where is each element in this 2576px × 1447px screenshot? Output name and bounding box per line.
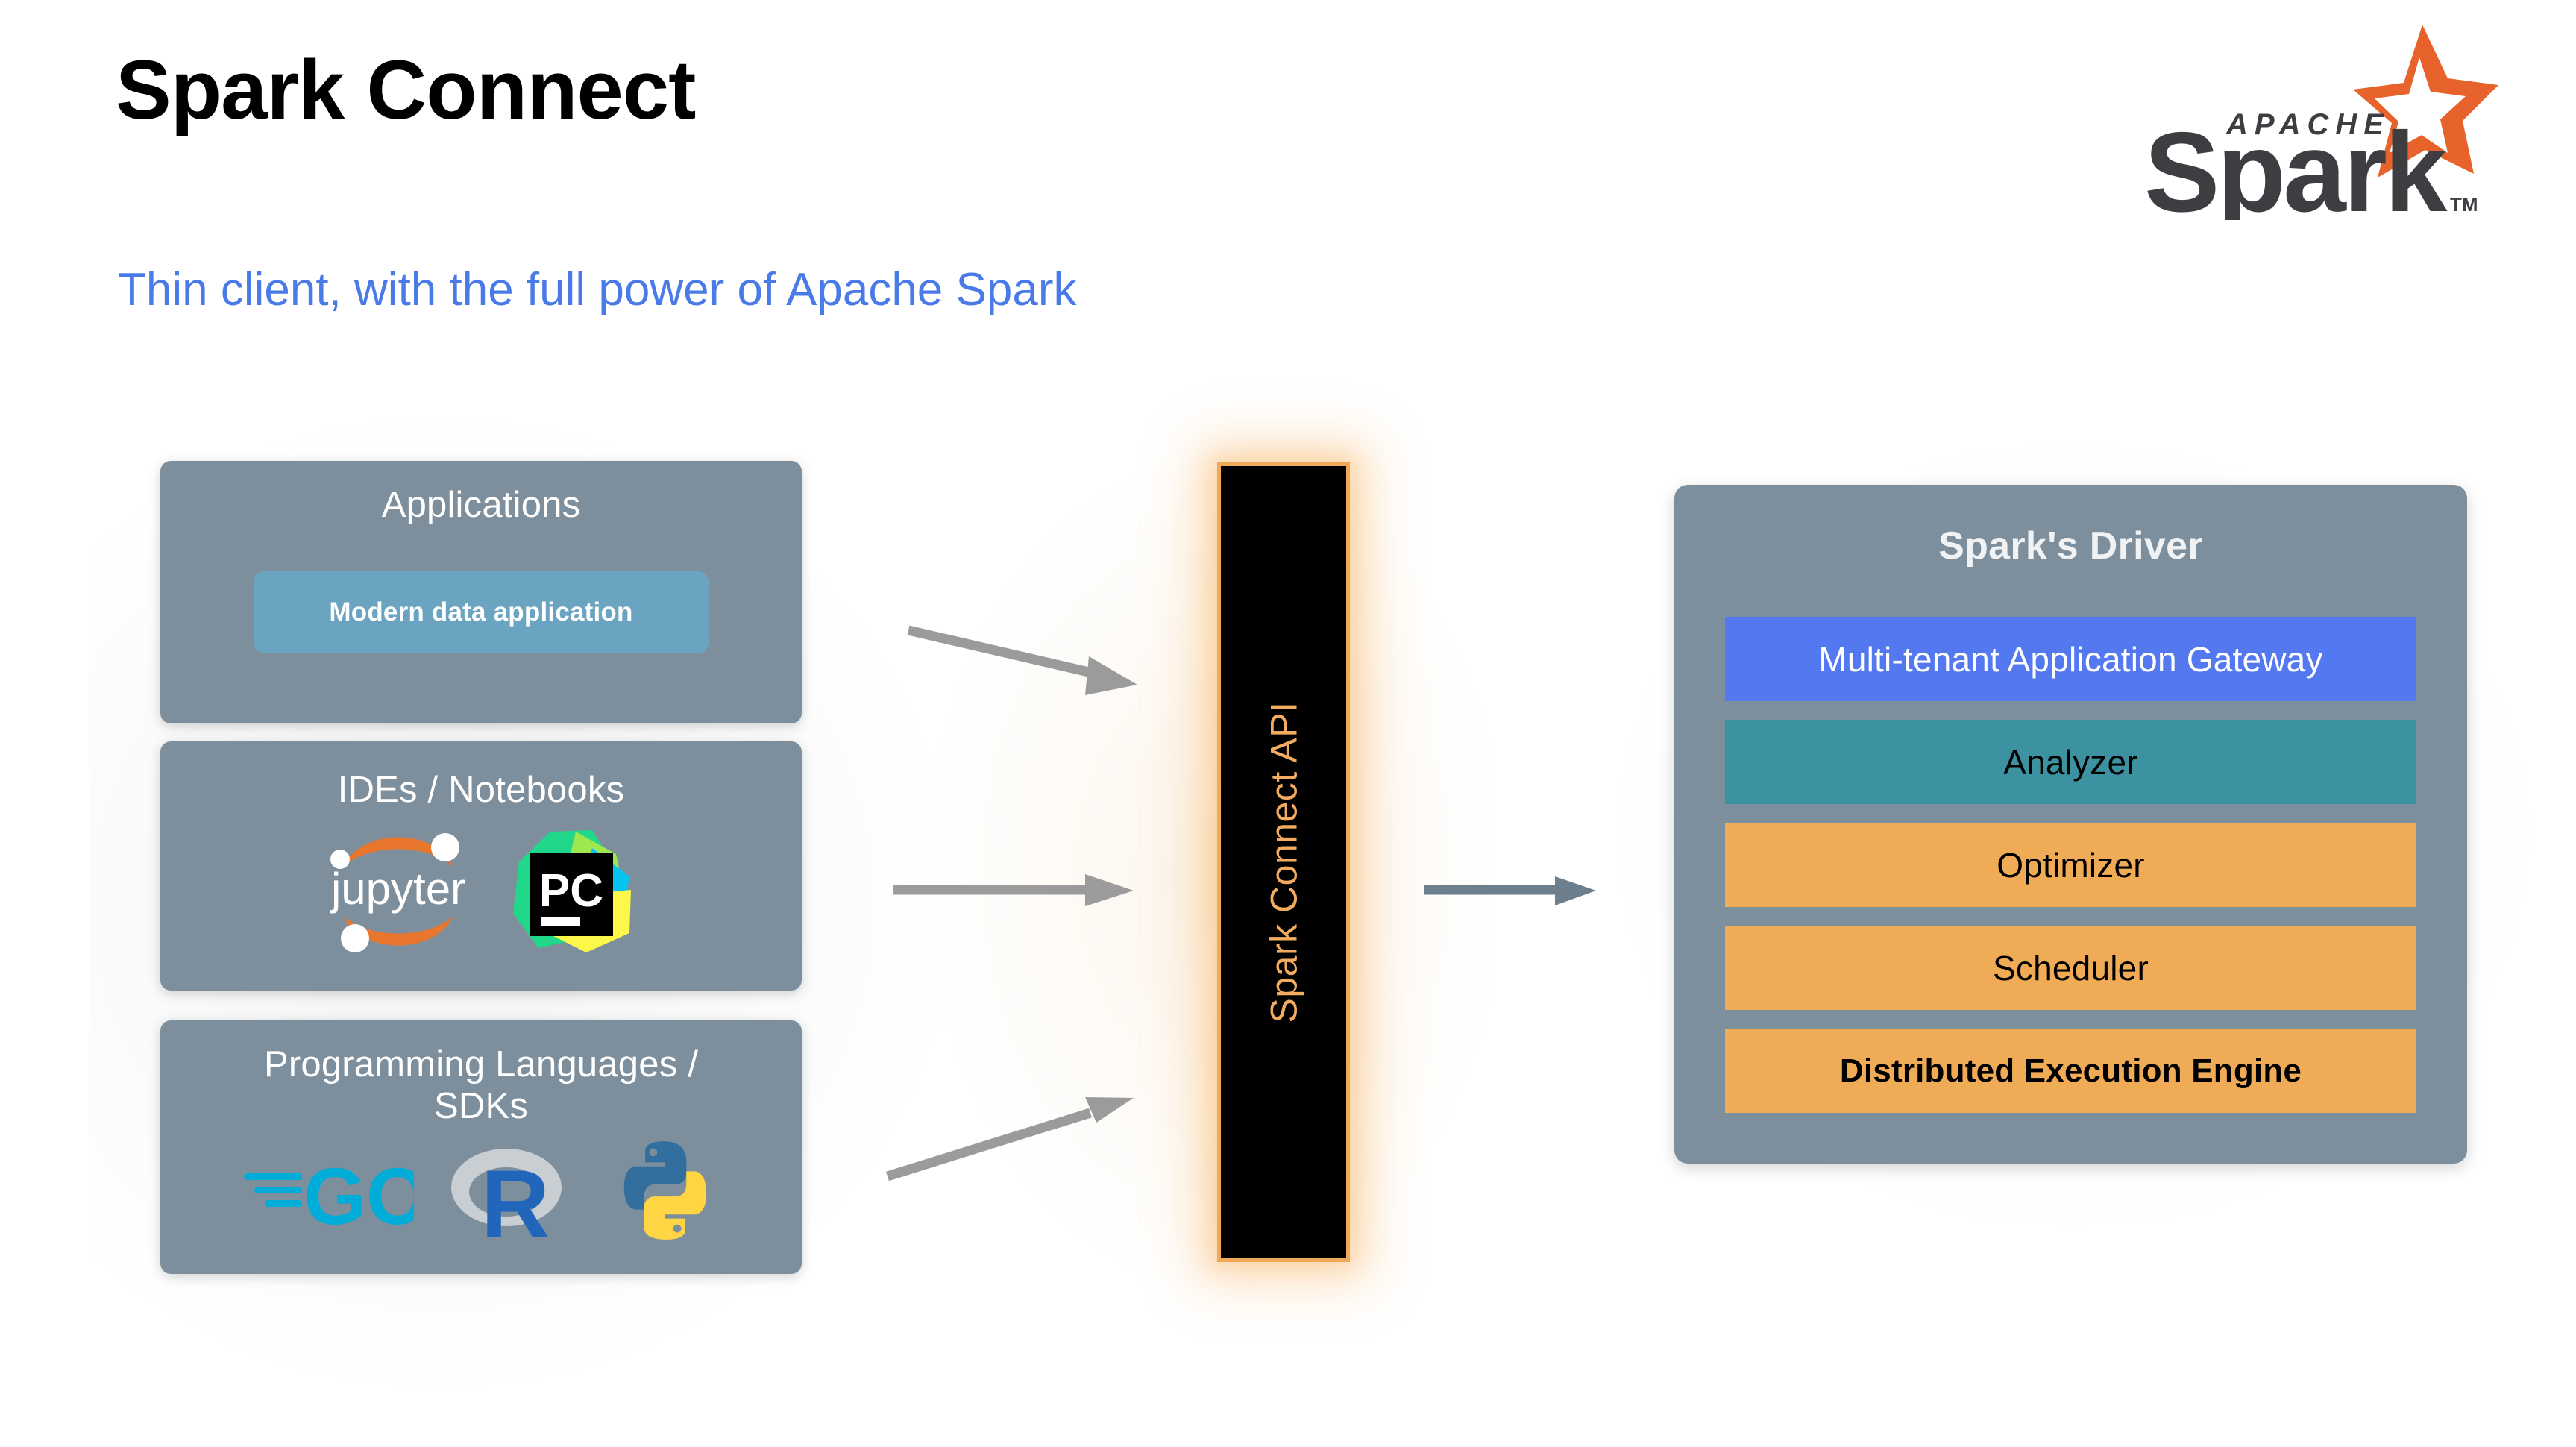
svg-text:Spark: Spark xyxy=(2144,109,2448,220)
driver-row-analyzer[interactable]: Analyzer xyxy=(1725,720,2416,804)
python-logo xyxy=(610,1134,720,1250)
spark-driver-panel[interactable]: Spark's Driver Multi-tenant Application … xyxy=(1674,485,2467,1164)
card-applications[interactable]: Applications Modern data application xyxy=(160,461,802,723)
card-languages[interactable]: Programming Languages / SDKs GO xyxy=(160,1020,802,1274)
page-subtitle: Thin client, with the full power of Apac… xyxy=(118,265,1076,316)
apache-spark-logo: APACHE Spark TM xyxy=(2129,19,2502,220)
go-logo: GO xyxy=(242,1142,414,1243)
slide-root: Spark Connect Thin client, with the full… xyxy=(0,0,2576,1447)
modern-data-application-box[interactable]: Modern data application xyxy=(254,571,709,653)
svg-text:R: R xyxy=(480,1151,549,1248)
svg-text:GO: GO xyxy=(304,1151,414,1239)
card-notebooks-title: IDEs / Notebooks xyxy=(160,770,802,812)
spark-connect-api-label: Spark Connect API xyxy=(1262,702,1305,1023)
language-logo-row: GO R xyxy=(160,1132,802,1252)
spark-driver-row-list: Multi-tenant Application Gateway Analyze… xyxy=(1725,617,2416,1113)
spark-connect-api-bar[interactable]: Spark Connect API xyxy=(1217,462,1350,1262)
svg-text:jupyter: jupyter xyxy=(330,864,465,914)
background-wash-center xyxy=(880,388,1492,1357)
spark-driver-title: Spark's Driver xyxy=(1674,524,2467,568)
card-notebooks[interactable]: IDEs / Notebooks jupyter xyxy=(160,741,802,991)
driver-row-gateway[interactable]: Multi-tenant Application Gateway xyxy=(1725,617,2416,701)
driver-row-optimizer[interactable]: Optimizer xyxy=(1725,823,2416,907)
notebook-logo-row: jupyter PC xyxy=(160,820,802,966)
jupyter-logo: jupyter xyxy=(324,820,473,966)
svg-text:TM: TM xyxy=(2450,193,2478,216)
pycharm-logo: PC xyxy=(504,824,638,962)
svg-text:PC: PC xyxy=(539,865,603,917)
card-applications-title: Applications xyxy=(160,485,802,527)
driver-row-execution-engine[interactable]: Distributed Execution Engine xyxy=(1725,1029,2416,1113)
card-languages-title-line-2: SDKs xyxy=(160,1086,802,1128)
card-languages-title-line-1: Programming Languages / xyxy=(160,1044,802,1086)
driver-row-scheduler[interactable]: Scheduler xyxy=(1725,926,2416,1010)
card-languages-title: Programming Languages / SDKs xyxy=(160,1044,802,1128)
page-title: Spark Connect xyxy=(116,46,695,134)
r-logo: R xyxy=(447,1132,577,1252)
